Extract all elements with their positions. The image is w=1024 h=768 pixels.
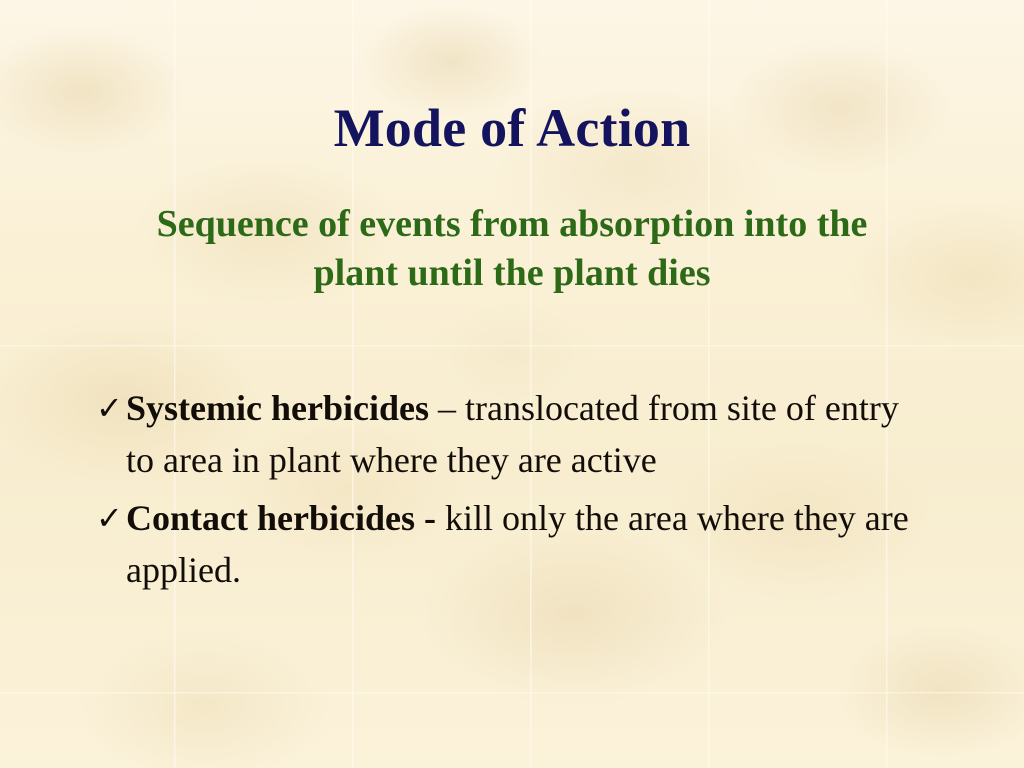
list-item: ✓ Systemic herbicides – translocated fro… (96, 382, 926, 486)
list-item-separator (436, 498, 445, 538)
slide-subtitle: Sequence of events from absorption into … (112, 200, 912, 297)
check-mark-icon: ✓ (96, 492, 123, 544)
list-item-lead: Systemic herbicides (126, 388, 429, 428)
slide-content: Mode of Action Sequence of events from a… (0, 0, 1024, 768)
bullet-list: ✓ Systemic herbicides – translocated fro… (96, 382, 926, 602)
check-mark-icon: ✓ (96, 382, 123, 434)
list-item-text: Systemic herbicides – translocated from … (126, 388, 899, 480)
slide-canvas: Mode of Action Sequence of events from a… (0, 0, 1024, 768)
list-item-lead: Contact herbicides - (126, 498, 436, 538)
list-item: ✓ Contact herbicides - kill only the are… (96, 492, 926, 596)
slide-title: Mode of Action (0, 100, 1024, 157)
list-item-text: Contact herbicides - kill only the area … (126, 498, 909, 590)
list-item-separator: – (429, 388, 465, 428)
